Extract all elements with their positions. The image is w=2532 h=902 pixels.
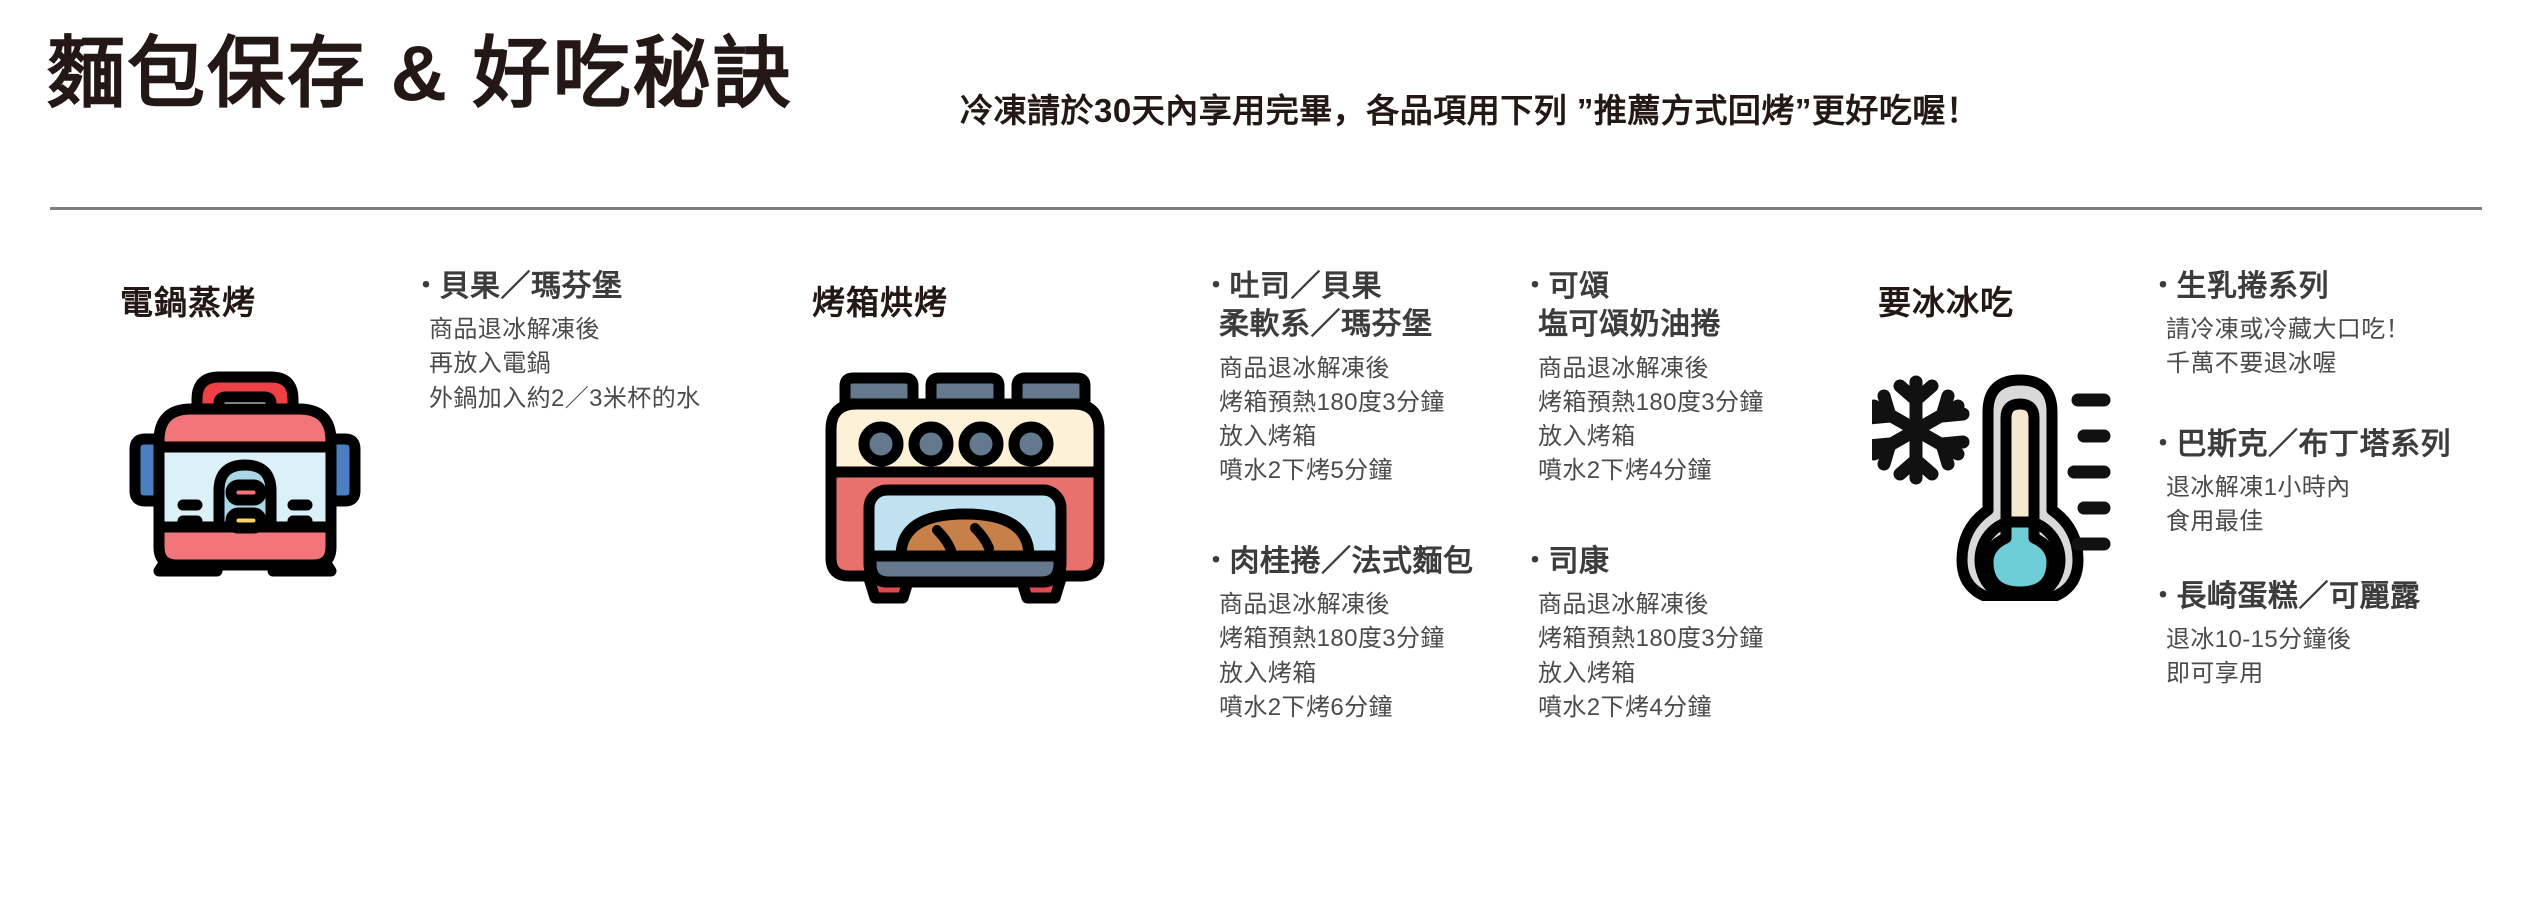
item-heading: ・肉桂捲／法式麵包 <box>1203 543 1533 581</box>
item-body: 商品退冰解凍後 烤箱預熱180度3分鐘 放入烤箱 噴水2下烤4分鐘 <box>1522 352 1852 488</box>
item-body: 請冷凍或冷藏大口吃！ 千萬不要退冰喔 <box>2150 313 2532 381</box>
item-heading-2: 塩可頌奶油捲 <box>1522 306 1852 344</box>
oven-icon <box>825 358 1105 613</box>
page-header: 麵包保存 & 好吃秘訣 冷凍請於30天內享用完畢，各品項用下列 ”推薦方式回烤”… <box>0 0 2532 208</box>
item-croissant: ・可頌 塩可頌奶油捲 商品退冰解凍後 烤箱預熱180度3分鐘 放入烤箱 噴水2下… <box>1522 268 1852 488</box>
item-heading: ・司康 <box>1522 543 1852 581</box>
item-scone: ・司康 商品退冰解凍後 烤箱預熱180度3分鐘 放入烤箱 噴水2下烤4分鐘 <box>1522 543 1852 725</box>
snowflake-icon <box>1872 382 1963 478</box>
item-castella-canele: ・長崎蛋糕／可麗露 退冰10-15分鐘後 即可享用 <box>2150 578 2532 692</box>
rice-cooker-icon <box>115 353 375 588</box>
page-subtitle: 冷凍請於30天內享用完畢，各品項用下列 ”推薦方式回烤”更好吃喔！ <box>960 84 1979 132</box>
bullet-icon: ・ <box>1522 545 1549 575</box>
thermometer-snowflake-icon <box>1872 356 2162 606</box>
section-title-rice-cooker: 電鍋蒸烤 <box>120 276 256 324</box>
item-body: 退冰解凍1小時內 食用最佳 <box>2150 471 2532 539</box>
item-roll-cake: ・生乳捲系列 請冷凍或冷藏大口吃！ 千萬不要退冰喔 <box>2150 268 2532 382</box>
bullet-icon: ・ <box>2150 580 2177 610</box>
bullet-icon: ・ <box>1203 270 1230 300</box>
section-title-oven: 烤箱烘烤 <box>812 276 948 324</box>
item-heading-2: 柔軟系／瑪芬堡 <box>1203 306 1533 344</box>
bullet-icon: ・ <box>1522 270 1549 300</box>
thermometer-scale <box>2074 400 2104 544</box>
item-heading: ・生乳捲系列 <box>2150 268 2532 306</box>
item-body: 商品退冰解凍後 烤箱預熱180度3分鐘 放入烤箱 噴水2下烤6分鐘 <box>1203 588 1533 724</box>
item-body: 退冰10-15分鐘後 即可享用 <box>2150 623 2532 691</box>
item-body: 商品退冰解凍後 烤箱預熱180度3分鐘 放入烤箱 噴水2下烤4分鐘 <box>1522 588 1852 724</box>
page-title: 麵包保存 & 好吃秘訣 <box>47 34 793 112</box>
bullet-icon: ・ <box>413 270 440 300</box>
item-body: 商品退冰解凍後 再放入電鍋 外鍋加入約2／3米杯的水 <box>413 313 743 415</box>
bullet-icon: ・ <box>2150 428 2177 458</box>
item-basque-pudding: ・巴斯克／布丁塔系列 退冰解凍1小時內 食用最佳 <box>2150 426 2532 540</box>
section-title-chilled: 要冰冰吃 <box>1878 276 2014 324</box>
bullet-icon: ・ <box>1203 545 1230 575</box>
item-heading: ・長崎蛋糕／可麗露 <box>2150 578 2532 616</box>
item-heading: ・可頌 <box>1522 268 1852 306</box>
item-cinnamon-french: ・肉桂捲／法式麵包 商品退冰解凍後 烤箱預熱180度3分鐘 放入烤箱 噴水2下烤… <box>1203 543 1533 725</box>
item-heading: ・巴斯克／布丁塔系列 <box>2150 426 2532 464</box>
item-bagel-muffin: ・貝果／瑪芬堡 商品退冰解凍後 再放入電鍋 外鍋加入約2／3米杯的水 <box>413 268 743 416</box>
item-heading: ・貝果／瑪芬堡 <box>413 268 743 306</box>
item-heading: ・吐司／貝果 <box>1203 268 1533 306</box>
content-board: 電鍋蒸烤 <box>0 208 2532 902</box>
item-toast-bagel: ・吐司／貝果 柔軟系／瑪芬堡 商品退冰解凍後 烤箱預熱180度3分鐘 放入烤箱 … <box>1203 268 1533 488</box>
bullet-icon: ・ <box>2150 270 2177 300</box>
item-body: 商品退冰解凍後 烤箱預熱180度3分鐘 放入烤箱 噴水2下烤5分鐘 <box>1203 352 1533 488</box>
